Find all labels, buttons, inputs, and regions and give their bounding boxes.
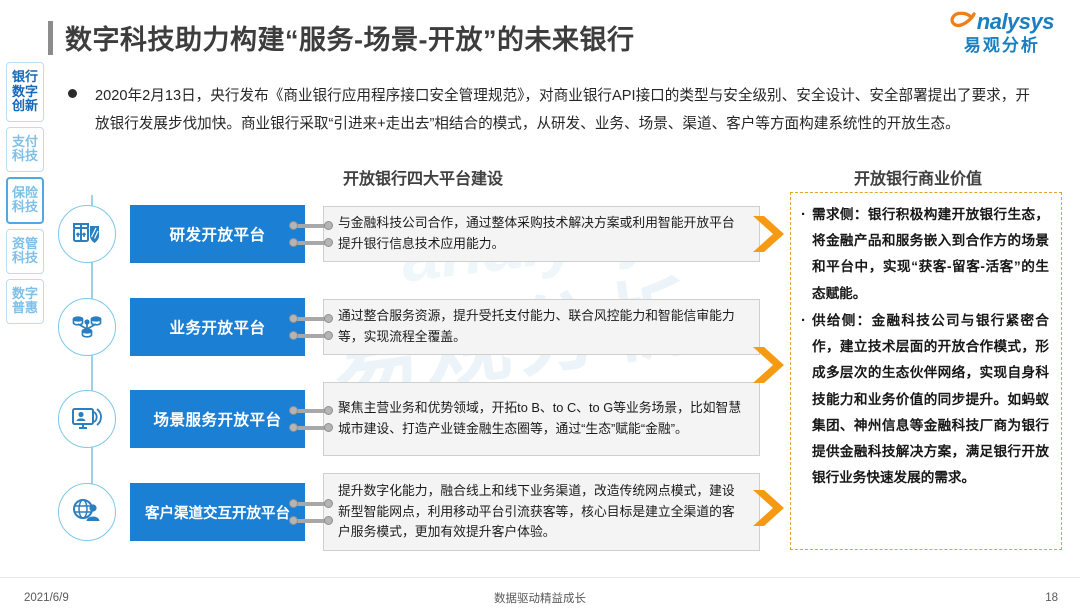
- link-icon: [289, 423, 333, 432]
- footer-divider: [0, 577, 1080, 578]
- platform-name: 业务开放平台: [169, 316, 265, 338]
- brand-logo: nalysys 易观分析: [950, 10, 1054, 54]
- sidebar-item-label: 数字普惠: [7, 287, 43, 316]
- link-icon: [289, 238, 333, 247]
- bullet-icon: ·: [801, 202, 812, 307]
- link-icon: [289, 221, 333, 230]
- platform-description: 与金融科技公司合作，通过整体采购技术解决方案或利用智能开放平台提升银行信息技术应…: [338, 213, 747, 254]
- bullet-icon: [68, 89, 77, 98]
- business-value-item: · 需求侧：银行积极构建开放银行生态，将金融产品和服务嵌入到合作方的场景和平台中…: [801, 202, 1049, 307]
- link-connectors: [289, 390, 333, 448]
- slide-page: analysys 易观分析 数字科技助力构建“服务-场景-开放”的未来银行 na…: [0, 0, 1080, 608]
- sidebar-item-label: 资管科技: [7, 237, 43, 266]
- platform-name-box[interactable]: 研发开放平台: [130, 205, 305, 263]
- platform-description-box: 提升数字化能力，融合线上和线下业务渠道，改造传统网点模式，建设新型智能网点，利用…: [323, 473, 760, 551]
- left-column-header: 开放银行四大平台建设: [343, 165, 503, 189]
- business-value-text: 需求侧：银行积极构建开放银行生态，将金融产品和服务嵌入到合作方的场景和平台中，实…: [812, 202, 1049, 307]
- intro-text: 2020年2月13日，央行发布《商业银行应用程序接口安全管理规范》，对商业银行A…: [95, 82, 1030, 138]
- link-connectors: [289, 483, 333, 541]
- link-connectors: [289, 298, 333, 356]
- link-icon: [289, 331, 333, 340]
- link-icon: [289, 314, 333, 323]
- platform-row: 客户渠道交互开放平台 提升数字化能力，融合线上和线下业务渠道，改造传统网点模式，…: [58, 481, 760, 543]
- platform-description: 提升数字化能力，融合线上和线下业务渠道，改造传统网点模式，建设新型智能网点，利用…: [338, 481, 747, 543]
- footer-page-number: 18: [1045, 592, 1058, 604]
- sidebar-item-asset-tech[interactable]: 资管科技: [6, 229, 44, 274]
- platform-description-box: 与金融科技公司合作，通过整体采购技术解决方案或利用智能开放平台提升银行信息技术应…: [323, 206, 760, 262]
- sidebar-item-label: 银行数字创新: [7, 70, 43, 114]
- chevron-right-icon: [751, 214, 787, 259]
- link-icon: [289, 406, 333, 415]
- chevron-right-icon: [751, 345, 787, 390]
- sidebar-item-payment-tech[interactable]: 支付科技: [6, 127, 44, 172]
- platform-name-box[interactable]: 客户渠道交互开放平台: [130, 483, 305, 541]
- page-title: 数字科技助力构建“服务-场景-开放”的未来银行: [48, 18, 634, 57]
- platform-description-box: 聚焦主营业务和优势领域，开拓to B、to C、to G等业务场景，比如智慧城市…: [323, 382, 760, 456]
- link-connectors: [289, 205, 333, 263]
- footer-tagline: 数据驱动精益成长: [0, 590, 1080, 606]
- sidebar-item-bank-digital[interactable]: 银行数字创新: [6, 62, 44, 122]
- platform-name-box[interactable]: 场景服务开放平台: [130, 390, 305, 448]
- business-value-item: · 供给侧：金融科技公司与银行紧密合作，建立技术层面的开放合作模式，形成多层次的…: [801, 308, 1049, 492]
- sidebar-item-insurance-tech[interactable]: 保险科技: [6, 177, 44, 224]
- sidebar-item-label: 支付科技: [7, 135, 43, 164]
- business-value-panel: · 需求侧：银行积极构建开放银行生态，将金融产品和服务嵌入到合作方的场景和平台中…: [790, 192, 1062, 550]
- sidebar-item-inclusive-finance[interactable]: 数字普惠: [6, 279, 44, 324]
- platform-row: 场景服务开放平台 聚焦主营业务和优势领域，开拓to B、to C、to G等业务…: [58, 388, 760, 450]
- platform-name: 研发开放平台: [169, 223, 265, 245]
- sidebar-item-label: 保险科技: [8, 186, 42, 215]
- platform-description: 聚焦主营业务和优势领域，开拓to B、to C、to G等业务场景，比如智慧城市…: [338, 398, 747, 439]
- bullet-icon: ·: [801, 308, 812, 492]
- globe-user-icon: [58, 483, 116, 541]
- platform-row: 研发开放平台 与金融科技公司合作，通过整体采购技术解决方案或利用智能开放平台提升…: [58, 203, 760, 265]
- sidebar: 银行数字创新 支付科技 保险科技 资管科技 数字普惠: [6, 62, 46, 329]
- logo-wordmark: nalysys: [977, 11, 1054, 33]
- logo-chinese-name: 易观分析: [950, 37, 1054, 54]
- title-text: 数字科技助力构建“服务-场景-开放”的未来银行: [65, 18, 634, 57]
- monitor-user-icon: [58, 390, 116, 448]
- title-accent-bar: [48, 21, 53, 55]
- logo-swoosh-icon: [950, 10, 976, 34]
- platform-row: 业务开放平台 通过整合服务资源，提升受托支付能力、联合风控能力和智能信审能力等，…: [58, 296, 760, 358]
- right-column-header: 开放银行商业价值: [854, 165, 982, 189]
- platform-description-box: 通过整合服务资源，提升受托支付能力、联合风控能力和智能信审能力等，实现流程全覆盖…: [323, 299, 760, 355]
- intro-paragraph: 2020年2月13日，央行发布《商业银行应用程序接口安全管理规范》，对商业银行A…: [68, 82, 1068, 138]
- database-network-icon: [58, 298, 116, 356]
- platform-name: 场景服务开放平台: [153, 408, 281, 430]
- business-value-text: 供给侧：金融科技公司与银行紧密合作，建立技术层面的开放合作模式，形成多层次的生态…: [812, 308, 1049, 492]
- platform-name-box[interactable]: 业务开放平台: [130, 298, 305, 356]
- chevron-right-icon: [751, 488, 787, 533]
- link-icon: [289, 499, 333, 508]
- platform-description: 通过整合服务资源，提升受托支付能力、联合风控能力和智能信审能力等，实现流程全覆盖…: [338, 306, 747, 347]
- shield-box-icon: [58, 205, 116, 263]
- link-icon: [289, 516, 333, 525]
- platform-name: 客户渠道交互开放平台: [145, 502, 290, 523]
